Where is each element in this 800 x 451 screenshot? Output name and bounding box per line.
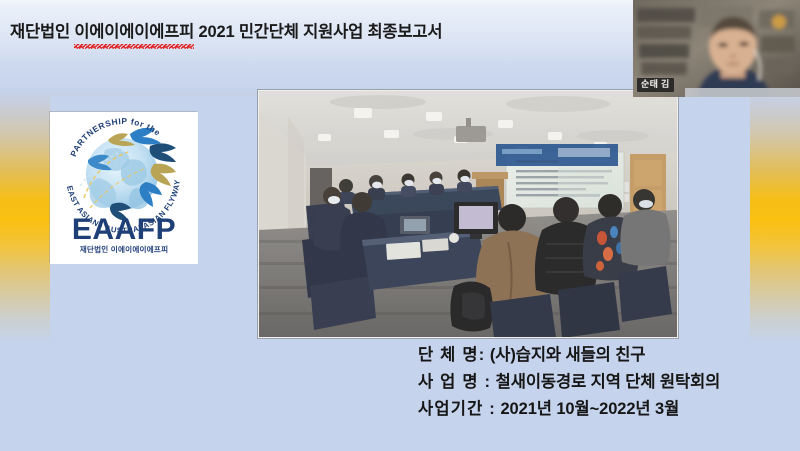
info-line-organization: 단 체 명: (사)습지와 새들의 친구: [418, 342, 788, 369]
info-value-organization: (사)습지와 새들의 친구: [485, 346, 645, 364]
presentation-slide: 재단법인 이에이에이에프피 2021 민간단체 지원사업 최종보고서: [0, 0, 800, 451]
eaafp-logo-graphic: PARTNERSHIP for the EAST ASIAN · AUSTRAL…: [50, 112, 198, 264]
info-value-period: 2021년 10월~2022년 3월: [496, 400, 679, 418]
title-suffix: 2021 민간단체 지원사업 최종보고서: [194, 23, 442, 41]
info-line-period: 사업기간 : 2021년 10월~2022년 3월: [418, 396, 788, 423]
info-label-organization: 단 체 명:: [418, 346, 485, 364]
info-line-project: 사 업 명 : 철새이동경로 지역 단체 원탁회의: [418, 369, 788, 396]
participant-name-label: 순태 김: [637, 78, 674, 92]
info-label-project: 사 업 명 :: [418, 373, 491, 391]
logo-korean-subtitle: 재단법인 이에이에이에프피: [80, 244, 169, 254]
info-label-period: 사업기간 :: [418, 400, 496, 418]
spellcheck-squiggle-icon: [74, 44, 194, 49]
meeting-room-photo: [258, 90, 678, 338]
page-title: 재단법인 이에이에이에프피 2021 민간단체 지원사업 최종보고서: [10, 18, 442, 46]
title-misspelled-text: 이에이에이에프피: [74, 23, 194, 41]
project-info-block: 단 체 명: (사)습지와 새들의 친구 사 업 명 : 철새이동경로 지역 단…: [418, 342, 788, 423]
title-misspelled-word: 이에이에이에프피: [74, 18, 194, 46]
title-prefix: 재단법인: [10, 23, 74, 41]
eaafp-logo: PARTNERSHIP for the EAST ASIAN · AUSTRAL…: [50, 112, 198, 264]
logo-acronym: EAAFP: [72, 213, 176, 246]
meeting-room-photo-graphic: [258, 90, 678, 338]
video-participant-tile[interactable]: 순태 김: [633, 0, 800, 97]
info-value-project: 철새이동경로 지역 단체 원탁회의: [491, 373, 720, 391]
